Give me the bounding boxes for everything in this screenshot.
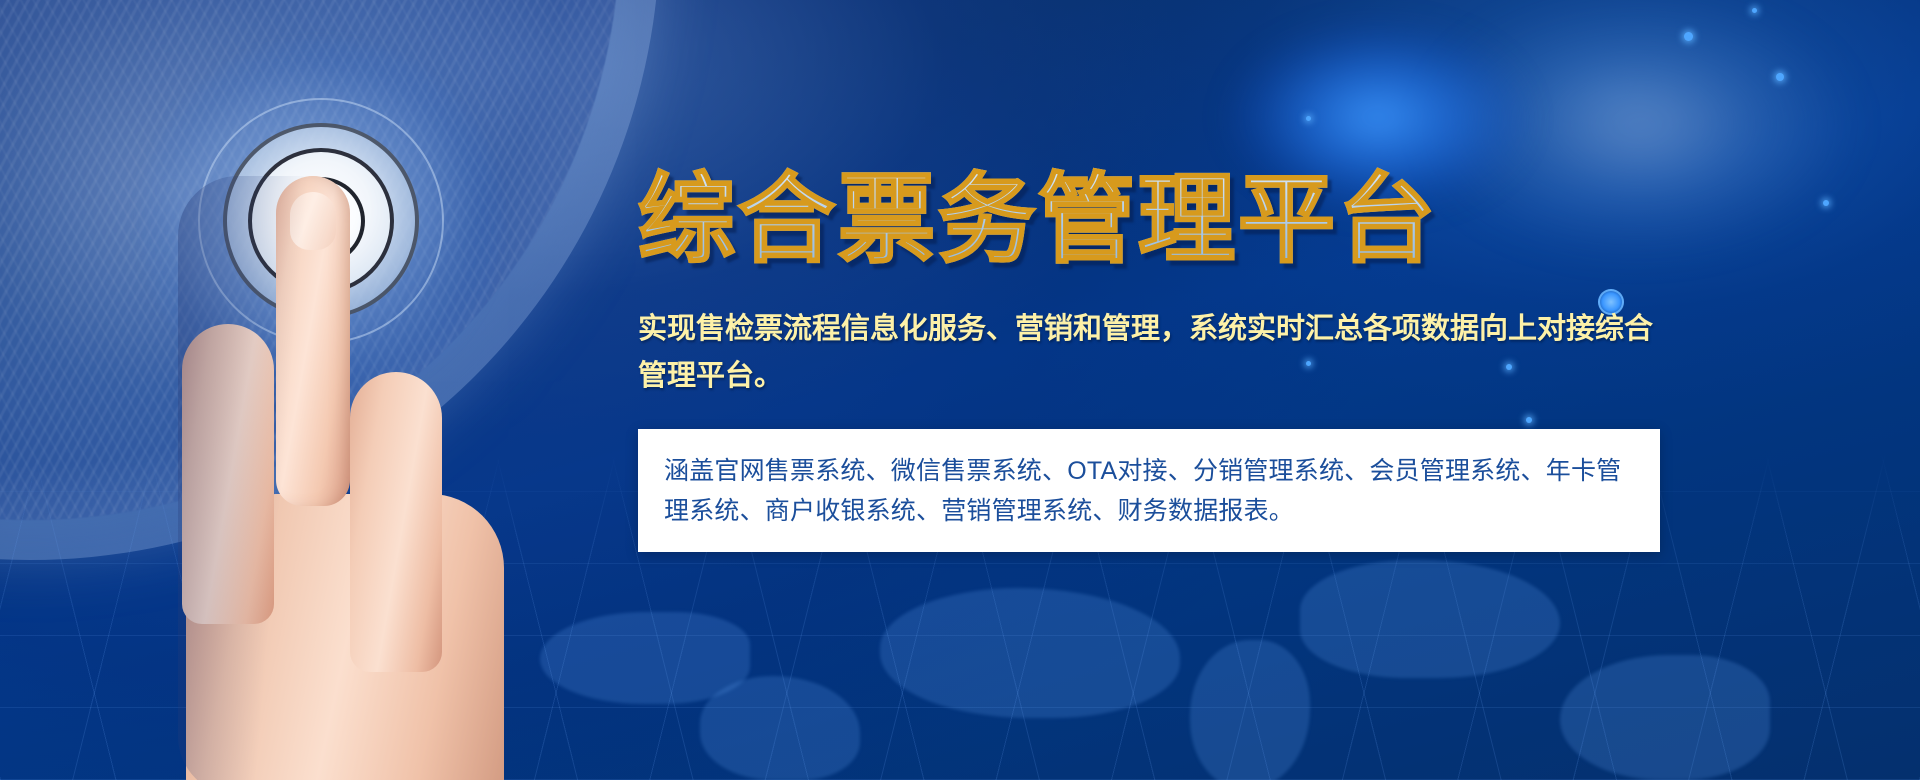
bokeh-dot-icon	[1752, 8, 1757, 13]
pointing-hand-graphic	[178, 176, 508, 780]
landmass-shape	[880, 588, 1180, 718]
bokeh-dot-icon	[1776, 73, 1784, 81]
landmass-shape	[700, 676, 860, 780]
bokeh-dot-icon	[1823, 200, 1829, 206]
hand-middle-finger	[182, 324, 274, 624]
hand-index-finger	[276, 176, 350, 506]
landmass-shape	[1300, 560, 1560, 678]
banner-content: 综合票务管理平台 实现售检票流程信息化服务、营销和管理，系统实时汇总各项数据向上…	[638, 0, 1698, 552]
page-title: 综合票务管理平台	[638, 0, 1698, 271]
hand-ring-finger	[350, 372, 442, 672]
hero-banner: 综合票务管理平台 实现售检票流程信息化服务、营销和管理，系统实时汇总各项数据向上…	[0, 0, 1920, 780]
fingernail	[290, 192, 336, 250]
feature-info-box: 涵盖官网售票系统、微信售票系统、OTA对接、分销管理系统、会员管理系统、年卡管理…	[638, 429, 1660, 552]
landmass-shape	[1190, 640, 1310, 780]
feature-info-text: 涵盖官网售票系统、微信售票系统、OTA对接、分销管理系统、会员管理系统、年卡管理…	[664, 451, 1632, 532]
landmass-shape	[1560, 655, 1770, 780]
banner-subtitle: 实现售检票流程信息化服务、营销和管理，系统实时汇总各项数据向上对接综合管理平台。	[638, 271, 1673, 399]
landmass-shape	[540, 612, 750, 704]
